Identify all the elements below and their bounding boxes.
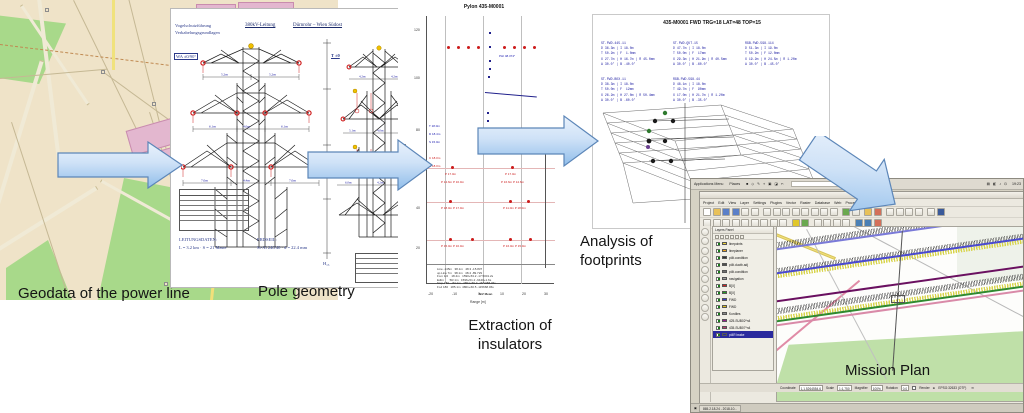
y-tick-label: 120 xyxy=(414,28,420,32)
drawing-legend-body-left: L = 3.2 km · S = 21 Maste xyxy=(179,245,227,250)
layer-symbol-swatch xyxy=(722,319,727,322)
layer-label: pl4R brake xyxy=(729,333,744,337)
drawing-legend-title: LEITUNGSDATEN: xyxy=(179,237,217,242)
panel-tray-icons[interactable]: ▤ ◧ ♪ ⏻ xyxy=(987,182,1008,186)
drawing-data-table xyxy=(179,189,249,231)
filter-legend-icon[interactable] xyxy=(725,235,729,239)
insulator-label: P 16.0m P 15.0m xyxy=(503,244,526,248)
footprint-text-block: ST.FWD.BOX.11 D 38.3m | I 18.0m T 50.0m … xyxy=(601,77,655,103)
layer-row[interactable]: FWD xyxy=(713,296,773,303)
layer-row[interactable]: lineplaner xyxy=(713,247,773,254)
coordinate-label: Coordinate xyxy=(780,386,796,390)
caption-geodata: Geodata of the power line xyxy=(18,285,190,302)
applications-menu-button[interactable]: Applications Menu xyxy=(694,182,723,186)
drawing-legend-body-right: St-Al 240/40 · d = 22.4 mm xyxy=(257,245,307,250)
layer-row[interactable]: 425-SUB02*n4 xyxy=(713,317,773,324)
layer-label: pl4t.condition xyxy=(729,270,748,274)
layers-panel-title: Layers Panel xyxy=(713,227,773,234)
layer-visibility-checkbox[interactable] xyxy=(716,242,720,246)
drawing-title-route: Dürnrohr – Wien Südost xyxy=(293,23,342,28)
insulator-point xyxy=(523,46,526,49)
render-label: Render xyxy=(919,386,929,390)
new-project-icon[interactable] xyxy=(703,208,711,216)
insulator-point xyxy=(527,200,530,203)
layer-visibility-checkbox[interactable] xyxy=(716,312,720,316)
layer-label: pl4t.ductb.adj xyxy=(729,263,748,267)
caption-pole-geometry: Pole geometry xyxy=(258,283,355,300)
rotation-value[interactable]: 0.0 xyxy=(901,385,909,391)
stat-block: T 18.0m xyxy=(429,124,440,128)
places-menu-button[interactable]: Places xyxy=(729,182,740,186)
conductor-fit-line xyxy=(485,92,537,98)
layer-symbol-swatch xyxy=(722,249,727,252)
pan-map-icon[interactable] xyxy=(763,208,771,216)
menu-project[interactable]: Project xyxy=(703,201,714,205)
add-group-icon[interactable] xyxy=(715,235,719,239)
svg-text:5.1m: 5.1m xyxy=(349,129,356,133)
gps-tools-icon[interactable] xyxy=(701,294,709,302)
insulator-point xyxy=(477,46,480,49)
insulator-point xyxy=(513,46,516,49)
layer-row[interactable]: pl4t.condition xyxy=(713,268,773,275)
insulator-chart-title: Pylon 435-M0001 xyxy=(398,4,570,10)
layer-row[interactable]: Kordlies xyxy=(713,310,773,317)
layer-label: pl4t.condition xyxy=(729,256,748,260)
layer-row[interactable]: pl4t.condition xyxy=(713,254,773,261)
insulator-label: P 11.0m P 18.0m xyxy=(503,206,526,210)
layer-row[interactable]: B[X] xyxy=(713,282,773,289)
digitize-icon[interactable] xyxy=(701,237,709,245)
plot-gridline xyxy=(427,202,555,203)
insulator-label: P 14.6m P 16.0m xyxy=(441,180,464,184)
layer-symbol-swatch xyxy=(722,333,727,336)
svg-text:4.0m: 4.0m xyxy=(377,129,384,133)
footprint-text-block: RGB.FWD.598.44 D 48.1m | I 18.0m T 49.7m… xyxy=(673,77,725,103)
svg-text:5.2m: 5.2m xyxy=(269,73,276,77)
layer-visibility-checkbox[interactable] xyxy=(716,284,720,288)
svg-text:7.0m: 7.0m xyxy=(289,179,296,183)
coordinate-value[interactable]: 1,1.5264554.6 xyxy=(799,385,823,391)
menu-edit[interactable]: Edit xyxy=(718,201,724,205)
drawing-note-2: Verkabelungsgrundlagen xyxy=(175,30,220,35)
insulator-point xyxy=(533,46,536,49)
layer-visibility-checkbox[interactable] xyxy=(716,270,720,274)
magnifier-label: Magnifier xyxy=(855,386,868,390)
insulator-point xyxy=(449,200,452,203)
scale-label: Scale xyxy=(826,386,834,390)
layer-label: lineplaner xyxy=(729,249,743,253)
help-contents-icon[interactable] xyxy=(701,313,709,321)
svg-text:4.0m: 4.0m xyxy=(243,125,250,129)
topology-icon[interactable] xyxy=(701,304,709,312)
taskbar-window-icon: ▣ xyxy=(694,406,697,410)
insulator-label: P 17.0m xyxy=(505,172,516,176)
qgis-left-toolbar[interactable] xyxy=(700,226,711,402)
menu-vector[interactable]: Vector xyxy=(786,201,796,205)
layer-row[interactable]: pl4t.ductb.adj xyxy=(713,261,773,268)
arrow-pole-to-insulators xyxy=(306,138,434,192)
layer-visibility-checkbox[interactable] xyxy=(716,277,720,281)
layer-list[interactable]: linepointslineplanerpl4t.conditionpl4t.d… xyxy=(713,240,773,338)
taskbar-window-item[interactable]: 865.2.18.24 - 2018-10... xyxy=(699,405,741,412)
drawing-dimension-label: H₁₅ xyxy=(323,261,329,266)
map-parcel-line xyxy=(73,0,140,135)
text-annotation-icon[interactable] xyxy=(927,208,935,216)
desktop-taskbar[interactable]: ▣ 865.2.18.24 - 2018-10... xyxy=(691,403,1024,412)
insulator-label: P 17.0m xyxy=(445,172,456,176)
y-tick-label: 40 xyxy=(416,206,420,210)
pylon-symbol xyxy=(891,295,905,303)
x-tick-label: 0 xyxy=(478,292,480,296)
arrow-insulators-to-footprints xyxy=(476,114,600,168)
layer-row[interactable]: 435-SUB07*n4 xyxy=(713,324,773,331)
conductor-point xyxy=(489,68,491,70)
qgis-application-frame[interactable]: Project Edit View Layer Settings Plugins… xyxy=(699,191,1024,413)
insulator-point xyxy=(471,238,474,241)
zoom-out-icon[interactable] xyxy=(782,208,790,216)
python-console-icon[interactable] xyxy=(937,208,945,216)
insulator-point xyxy=(449,238,452,241)
layer-symbol-swatch xyxy=(722,312,727,315)
insulator-label: P 18.0m P 17.0m xyxy=(441,206,464,210)
plugins-icon[interactable] xyxy=(701,266,709,274)
print-icon[interactable] xyxy=(751,208,759,216)
manage-layer-visibility-icon[interactable] xyxy=(720,235,724,239)
layer-symbol-swatch xyxy=(722,277,727,280)
map-pole-marker xyxy=(152,102,156,106)
layer-row[interactable]: B[X] xyxy=(713,289,773,296)
layer-label: FWD xyxy=(729,298,736,302)
footprint-text-block: ST.FWD.QUT.15 D 47.7m | I 18.0m T 50.0m … xyxy=(673,41,727,67)
map-track xyxy=(112,0,115,70)
drawing-title-voltage: 380kV-Leitung xyxy=(245,23,275,28)
svg-text:5.2m: 5.2m xyxy=(221,73,228,77)
layer-visibility-checkbox[interactable] xyxy=(716,249,720,253)
x-axis-label: Range [m] xyxy=(470,300,486,304)
zoom-in-icon[interactable] xyxy=(773,208,781,216)
menu-settings[interactable]: Settings xyxy=(753,201,766,205)
conductor-point xyxy=(488,76,490,78)
layer-row[interactable]: linepoints xyxy=(713,240,773,247)
save-project-icon[interactable] xyxy=(722,208,730,216)
svg-text:4.2m: 4.2m xyxy=(359,75,366,79)
layer-symbol-swatch xyxy=(722,263,727,266)
magnifier-value[interactable]: 100% xyxy=(871,385,883,391)
map-navigation-icon[interactable] xyxy=(701,228,709,236)
x-tick-label: 20 xyxy=(522,292,526,296)
crs-label[interactable]: EPSG:32633 (OTF) xyxy=(938,386,966,390)
svg-text:4.4m: 4.4m xyxy=(243,179,250,183)
insulator-point xyxy=(509,238,512,241)
insulator-label: P 16.6m P 14.6m xyxy=(501,180,524,184)
panel-clock: 19:23 xyxy=(1012,182,1021,186)
map-pole-marker xyxy=(101,70,105,74)
drawing-legend-right-title: ERDSEIL: xyxy=(257,237,277,242)
insulator-point xyxy=(447,46,450,49)
crs-icon[interactable]: ⊕ xyxy=(933,386,936,390)
layer-row[interactable]: FWD xyxy=(713,303,773,310)
svg-text:7.0m: 7.0m xyxy=(201,179,208,183)
rotation-label: Rotation xyxy=(886,386,898,390)
layer-symbol-swatch xyxy=(722,291,727,294)
layer-label: 425-SUB02*n4 xyxy=(729,319,750,323)
layer-visibility-checkbox[interactable] xyxy=(716,263,720,267)
arrow-geodata-to-pole xyxy=(56,140,184,190)
layer-symbol-swatch xyxy=(722,305,727,308)
layer-label: B[X] xyxy=(729,291,735,295)
insulator-point xyxy=(457,46,460,49)
scale-value[interactable]: 1:1,750 xyxy=(837,385,852,391)
open-project-icon[interactable] xyxy=(713,208,721,216)
insulator-point xyxy=(451,166,454,169)
svg-text:6.1m: 6.1m xyxy=(209,125,216,129)
statistics-icon[interactable] xyxy=(905,208,913,216)
layer-label: linepoints xyxy=(729,242,742,246)
phi-annotation: PHI 48.374° xyxy=(499,54,515,58)
arrow-footprints-to-mission xyxy=(798,136,906,214)
snapping-icon[interactable] xyxy=(701,247,709,255)
expand-all-icon[interactable] xyxy=(730,235,734,239)
collapse-all-icon[interactable] xyxy=(735,235,739,239)
svg-text:6.1m: 6.1m xyxy=(281,125,288,129)
menu-plugins[interactable]: Plugins xyxy=(770,201,782,205)
layer-symbol-swatch xyxy=(722,284,727,287)
conductor-point xyxy=(489,60,491,62)
caption-insulators-line1: Extraction of xyxy=(440,316,580,335)
plot-gridline xyxy=(427,240,555,241)
insulator-point xyxy=(503,46,506,49)
measure-icon[interactable] xyxy=(915,208,923,216)
y-tick-label: 80 xyxy=(416,128,420,132)
layer-visibility-checkbox[interactable] xyxy=(716,326,720,330)
drawing-note-1: Vogelschutzführung xyxy=(175,23,211,28)
layer-visibility-checkbox[interactable] xyxy=(716,291,720,295)
layer-visibility-checkbox[interactable] xyxy=(716,333,720,337)
layer-label: B[X] xyxy=(729,284,735,288)
panel-icon-group[interactable]: ■ ◇ ✎ ⌖ ▣ ◪ ✂ xyxy=(746,182,785,186)
footprint-text-block: ST.FWD.445.11 D 36.3m | I 18.0m T 50.2m … xyxy=(601,41,655,67)
menu-layer[interactable]: Layer xyxy=(740,201,749,205)
qgis-status-bar[interactable]: Coordinate 1,1.5264554.6 Scale 1:1,750 M… xyxy=(700,383,1024,392)
layer-symbol-swatch xyxy=(722,256,727,259)
insulator-label: P 15.0m P 16.0m xyxy=(441,244,464,248)
messages-icon[interactable]: ✉ xyxy=(971,386,974,390)
x-tick-label: 30 xyxy=(544,292,548,296)
layer-visibility-checkbox[interactable] xyxy=(716,319,720,323)
layer-symbol-swatch xyxy=(722,298,727,301)
layer-symbol-swatch xyxy=(722,270,727,273)
insulator-point xyxy=(467,46,470,49)
save-as-icon[interactable] xyxy=(732,208,740,216)
insulator-point xyxy=(509,200,512,203)
footer-table: Line -145m 38.1m 48.3 -15.837 up.Line 7m… xyxy=(437,268,513,290)
layer-label: navigation xyxy=(729,277,744,281)
layer-label: FWD xyxy=(729,305,736,309)
stat-block: D 18.4m xyxy=(429,132,440,136)
layers-panel[interactable]: Layers Panel linepointslineplanerpl4t.co… xyxy=(712,226,774,371)
y-tick-label: 20 xyxy=(416,246,420,250)
layer-label: 435-SUB07*n4 xyxy=(729,326,750,330)
layer-label: Kordlies xyxy=(729,312,741,316)
footprint-text-block: RGB.FWD.598.114 D 51.3m | I 19.0m T 50.2… xyxy=(745,41,797,67)
menu-view[interactable]: View xyxy=(728,201,736,205)
render-checkbox[interactable] xyxy=(912,386,916,390)
insulator-point xyxy=(529,238,532,241)
svg-text:4.2m: 4.2m xyxy=(391,75,398,79)
remove-layer-icon[interactable] xyxy=(740,235,744,239)
map-pole-marker xyxy=(45,8,49,12)
caption-insulators-line2: insulators xyxy=(440,335,580,354)
processing-icon[interactable] xyxy=(701,275,709,283)
conductor-point xyxy=(489,32,491,34)
layer-visibility-checkbox[interactable] xyxy=(716,298,720,302)
layer-visibility-checkbox[interactable] xyxy=(716,305,720,309)
x-tick-label: -20 xyxy=(428,292,433,296)
plot-gridline xyxy=(427,168,555,169)
x-tick-label: 10 xyxy=(500,292,504,296)
labeling-icon[interactable] xyxy=(701,256,709,264)
x-tick-label: -10 xyxy=(452,292,457,296)
layer-row[interactable]: navigation xyxy=(713,275,773,282)
layer-symbol-swatch xyxy=(722,326,727,329)
layer-symbol-swatch xyxy=(722,242,727,245)
print-layout-icon[interactable] xyxy=(741,208,749,216)
layer-visibility-checkbox[interactable] xyxy=(716,256,720,260)
conductor-point xyxy=(489,46,491,48)
footprint-chart-title: 435-M0001 FWD TRG=18 LAT=48 TOP=15 xyxy=(593,20,830,26)
layer-row[interactable]: pl4R brake xyxy=(713,331,773,338)
caption-insulators: Extraction of insulators xyxy=(440,316,580,354)
georeferencer-icon[interactable] xyxy=(701,285,709,293)
footer-caption: N/Z Mean xyxy=(479,292,492,296)
caption-mission-plan: Mission Plan xyxy=(845,362,930,379)
y-tick-label: 100 xyxy=(414,76,420,80)
